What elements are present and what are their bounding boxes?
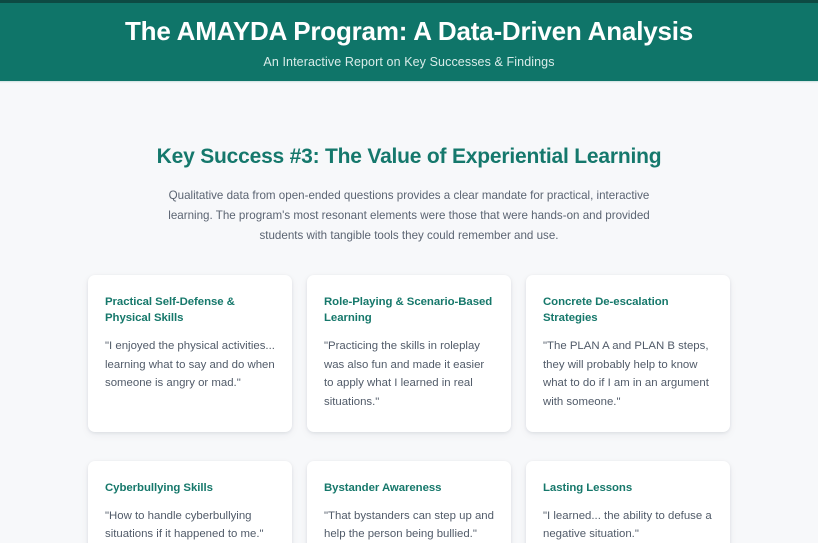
quote-card-text: "I learned... the ability to defuse a ne… bbox=[543, 507, 713, 543]
quote-card[interactable]: Practical Self-Defense & Physical Skills… bbox=[88, 275, 292, 432]
header-divider bbox=[0, 81, 818, 83]
quote-card-text: "I enjoyed the physical activities... le… bbox=[105, 337, 275, 393]
quote-card-title: Bystander Awareness bbox=[324, 480, 494, 496]
section-intro-text: Qualitative data from open-ended questio… bbox=[159, 186, 659, 246]
quote-card[interactable]: Cyberbullying Skills "How to handle cybe… bbox=[88, 461, 292, 543]
page-title: The AMAYDA Program: A Data-Driven Analys… bbox=[125, 17, 693, 47]
quote-card-text: "Practicing the skills in roleplay was a… bbox=[324, 337, 494, 411]
quote-card-text: "How to handle cyberbullying situations … bbox=[105, 507, 275, 543]
quote-card-title: Cyberbullying Skills bbox=[105, 480, 275, 496]
quote-card-title: Role-Playing & Scenario-Based Learning bbox=[324, 294, 494, 326]
main-content: Key Success #3: The Value of Experientia… bbox=[0, 145, 818, 543]
quote-card-title: Practical Self-Defense & Physical Skills bbox=[105, 294, 275, 326]
quote-card-text: "That bystanders can step up and help th… bbox=[324, 507, 494, 543]
quote-card[interactable]: Bystander Awareness "That bystanders can… bbox=[307, 461, 511, 543]
quote-card[interactable]: Role-Playing & Scenario-Based Learning "… bbox=[307, 275, 511, 432]
quote-card-grid-row-1: Practical Self-Defense & Physical Skills… bbox=[88, 275, 730, 432]
quote-card-title: Lasting Lessons bbox=[543, 480, 713, 496]
quote-card-title: Concrete De-escalation Strategies bbox=[543, 294, 713, 326]
page-subtitle: An Interactive Report on Key Successes &… bbox=[263, 55, 554, 69]
quote-card[interactable]: Lasting Lessons "I learned... the abilit… bbox=[526, 461, 730, 543]
quote-card-grid-row-2: Cyberbullying Skills "How to handle cybe… bbox=[88, 461, 730, 543]
quote-card-text: "The PLAN A and PLAN B steps, they will … bbox=[543, 337, 713, 411]
section-title: Key Success #3: The Value of Experientia… bbox=[88, 145, 730, 169]
quote-card[interactable]: Concrete De-escalation Strategies "The P… bbox=[526, 275, 730, 432]
page-header: The AMAYDA Program: A Data-Driven Analys… bbox=[0, 3, 818, 81]
